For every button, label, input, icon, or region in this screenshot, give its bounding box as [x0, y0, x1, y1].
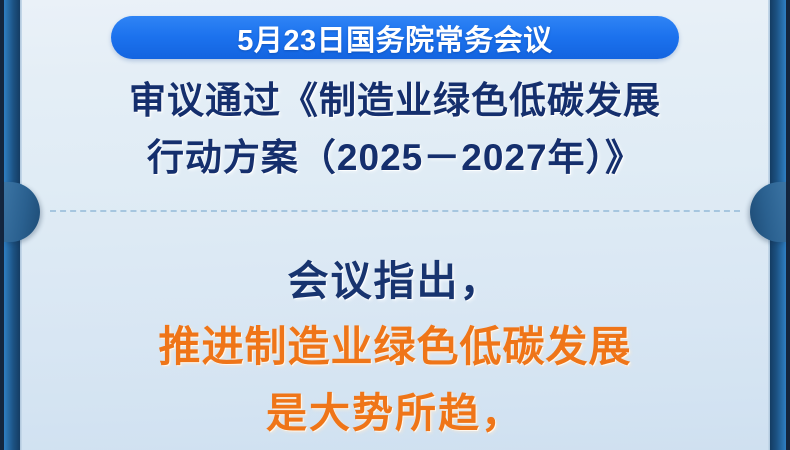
- meeting-date-badge: 5月23日国务院常务会议: [111, 16, 679, 59]
- body-statement: 会议指出， 推进制造业绿色低碳发展 是大势所趋，: [22, 248, 768, 446]
- title-line-2: 行动方案（2025－2027年）》: [22, 129, 768, 186]
- body-line-1: 会议指出，: [22, 248, 768, 314]
- title-line-1: 审议通过《制造业绿色低碳发展: [22, 72, 768, 129]
- badge-row: 5月23日国务院常务会议: [22, 16, 768, 59]
- poster-canvas: 5月23日国务院常务会议 审议通过《制造业绿色低碳发展 行动方案（2025－20…: [0, 0, 790, 450]
- body-line-3: 是大势所趋，: [22, 380, 768, 446]
- poster-content: 5月23日国务院常务会议 审议通过《制造业绿色低碳发展 行动方案（2025－20…: [22, 0, 768, 450]
- page-title: 审议通过《制造业绿色低碳发展 行动方案（2025－2027年）》: [22, 72, 768, 186]
- body-line-2: 推进制造业绿色低碳发展: [22, 314, 768, 380]
- dashed-divider: [50, 210, 740, 212]
